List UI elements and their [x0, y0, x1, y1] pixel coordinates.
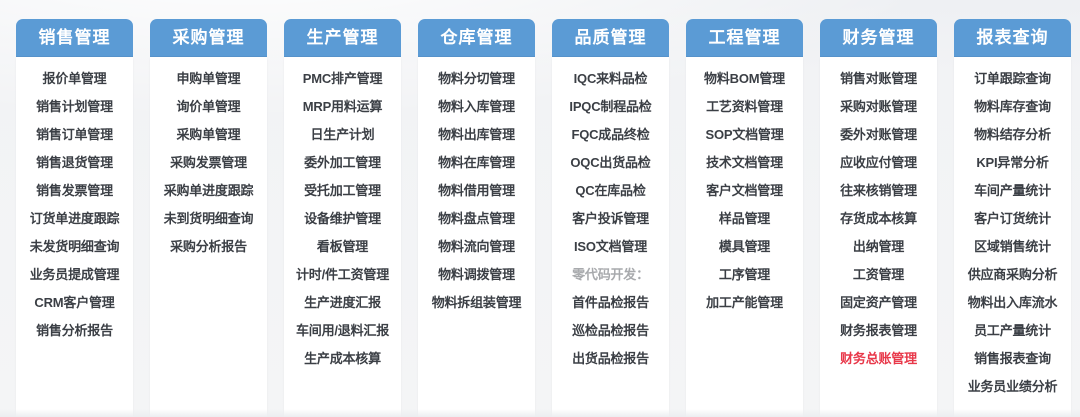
module-menu-item[interactable]: 日生产计划: [284, 121, 401, 149]
module-header-3[interactable]: 生产管理: [284, 19, 401, 57]
module-menu-item[interactable]: QC在库品检: [552, 177, 669, 205]
module-menu-item[interactable]: FQC成品终检: [552, 121, 669, 149]
module-menu-item[interactable]: 生产进度汇报: [284, 289, 401, 317]
module-menu-item[interactable]: ISO文档管理: [552, 233, 669, 261]
module-menu-item[interactable]: 财务总账管理: [820, 345, 937, 373]
module-item-list: IQC来料品检IPQC制程品检FQC成品终检OQC出货品检QC在库品检客户投诉管…: [552, 57, 669, 417]
module-card: 生产管理PMC排产管理MRP用料运算日生产计划委外加工管理受托加工管理设备维护管…: [284, 19, 401, 417]
module-menu-item[interactable]: 物料借用管理: [418, 177, 535, 205]
module-menu-item[interactable]: 财务报表管理: [820, 317, 937, 345]
module-menu-item[interactable]: 采购发票管理: [150, 149, 267, 177]
module-item-list: 物料BOM管理工艺资料管理SOP文档管理技术文档管理客户文档管理样品管理模具管理…: [686, 57, 803, 417]
module-card-grid: 销售管理报价单管理销售计划管理销售订单管理销售退货管理销售发票管理订货单进度跟踪…: [0, 0, 1080, 417]
module-menu-item[interactable]: 物料BOM管理: [686, 65, 803, 93]
module-card: 销售管理报价单管理销售计划管理销售订单管理销售退货管理销售发票管理订货单进度跟踪…: [16, 19, 133, 417]
module-card: 采购管理申购单管理询价单管理采购单管理采购发票管理采购单进度跟踪未到货明细查询采…: [150, 19, 267, 417]
module-menu-item[interactable]: 样品管理: [686, 205, 803, 233]
module-menu-item[interactable]: 销售分析报告: [16, 317, 133, 345]
module-menu-item[interactable]: 订单跟踪查询: [954, 65, 1071, 93]
module-menu-item[interactable]: 销售退货管理: [16, 149, 133, 177]
module-header-5[interactable]: 品质管理: [552, 19, 669, 57]
module-menu-item[interactable]: 存货成本核算: [820, 205, 937, 233]
module-menu-item[interactable]: 出货品检报告: [552, 345, 669, 373]
module-menu-item[interactable]: 未发货明细查询: [16, 233, 133, 261]
module-header-7[interactable]: 财务管理: [820, 19, 937, 57]
module-menu-item[interactable]: 未到货明细查询: [150, 205, 267, 233]
module-menu-item[interactable]: 采购单管理: [150, 121, 267, 149]
module-menu-item[interactable]: 销售订单管理: [16, 121, 133, 149]
module-menu-item[interactable]: 物料调拨管理: [418, 261, 535, 289]
module-menu-item[interactable]: 模具管理: [686, 233, 803, 261]
module-menu-item[interactable]: 往来核销管理: [820, 177, 937, 205]
erp-module-navigation: 销售管理报价单管理销售计划管理销售订单管理销售退货管理销售发票管理订货单进度跟踪…: [0, 0, 1080, 417]
module-menu-item[interactable]: 销售计划管理: [16, 93, 133, 121]
module-menu-item[interactable]: 物料结存分析: [954, 121, 1071, 149]
module-header-1[interactable]: 销售管理: [16, 19, 133, 57]
module-menu-item[interactable]: 应收应付管理: [820, 149, 937, 177]
module-menu-item[interactable]: 客户文档管理: [686, 177, 803, 205]
module-menu-item[interactable]: 车间产量统计: [954, 177, 1071, 205]
module-menu-item[interactable]: 采购分析报告: [150, 233, 267, 261]
module-item-list: 申购单管理询价单管理采购单管理采购发票管理采购单进度跟踪未到货明细查询采购分析报…: [150, 57, 267, 417]
module-item-list: 销售对账管理采购对账管理委外对账管理应收应付管理往来核销管理存货成本核算出纳管理…: [820, 57, 937, 417]
module-menu-item[interactable]: 工艺资料管理: [686, 93, 803, 121]
module-menu-item[interactable]: 供应商采购分析: [954, 261, 1071, 289]
module-menu-item[interactable]: IPQC制程品检: [552, 93, 669, 121]
module-menu-item[interactable]: 物料库存查询: [954, 93, 1071, 121]
module-menu-item[interactable]: SOP文档管理: [686, 121, 803, 149]
module-menu-item[interactable]: 生产成本核算: [284, 345, 401, 373]
module-card: 仓库管理物料分切管理物料入库管理物料出库管理物料在库管理物料借用管理物料盘点管理…: [418, 19, 535, 417]
module-item-list: 订单跟踪查询物料库存查询物料结存分析KPI异常分析车间产量统计客户订货统计区域销…: [954, 57, 1071, 417]
module-menu-item[interactable]: 采购单进度跟踪: [150, 177, 267, 205]
module-menu-item[interactable]: 客户投诉管理: [552, 205, 669, 233]
module-card: 报表查询订单跟踪查询物料库存查询物料结存分析KPI异常分析车间产量统计客户订货统…: [954, 19, 1071, 417]
module-menu-item[interactable]: 销售对账管理: [820, 65, 937, 93]
module-menu-item[interactable]: 采购对账管理: [820, 93, 937, 121]
module-menu-item[interactable]: 物料入库管理: [418, 93, 535, 121]
module-menu-item[interactable]: KPI异常分析: [954, 149, 1071, 177]
module-item-list: 物料分切管理物料入库管理物料出库管理物料在库管理物料借用管理物料盘点管理物料流向…: [418, 57, 535, 417]
module-card: 工程管理物料BOM管理工艺资料管理SOP文档管理技术文档管理客户文档管理样品管理…: [686, 19, 803, 417]
module-menu-item[interactable]: 业务员提成管理: [16, 261, 133, 289]
module-header-8[interactable]: 报表查询: [954, 19, 1071, 57]
module-menu-item[interactable]: 看板管理: [284, 233, 401, 261]
module-item-list: PMC排产管理MRP用料运算日生产计划委外加工管理受托加工管理设备维护管理看板管…: [284, 57, 401, 417]
module-menu-item[interactable]: 物料出库管理: [418, 121, 535, 149]
module-menu-item[interactable]: 员工产量统计: [954, 317, 1071, 345]
module-menu-item[interactable]: 物料出入库流水: [954, 289, 1071, 317]
module-menu-item[interactable]: 物料盘点管理: [418, 205, 535, 233]
module-menu-item[interactable]: 委外加工管理: [284, 149, 401, 177]
module-menu-item[interactable]: 销售发票管理: [16, 177, 133, 205]
module-menu-item[interactable]: IQC来料品检: [552, 65, 669, 93]
module-menu-item[interactable]: 出纳管理: [820, 233, 937, 261]
module-menu-item[interactable]: 设备维护管理: [284, 205, 401, 233]
module-menu-item[interactable]: PMC排产管理: [284, 65, 401, 93]
module-menu-item[interactable]: 物料拆组装管理: [418, 289, 535, 317]
module-menu-item[interactable]: 技术文档管理: [686, 149, 803, 177]
module-header-2[interactable]: 采购管理: [150, 19, 267, 57]
module-menu-item[interactable]: 受托加工管理: [284, 177, 401, 205]
module-header-6[interactable]: 工程管理: [686, 19, 803, 57]
module-menu-item[interactable]: 工资管理: [820, 261, 937, 289]
module-menu-item[interactable]: 订货单进度跟踪: [16, 205, 133, 233]
module-menu-item[interactable]: 客户订货统计: [954, 205, 1071, 233]
module-menu-item[interactable]: MRP用料运算: [284, 93, 401, 121]
module-section-label: 零代码开发：: [552, 261, 669, 289]
module-menu-item[interactable]: 巡检品检报告: [552, 317, 669, 345]
module-menu-item[interactable]: 物料在库管理: [418, 149, 535, 177]
module-menu-item[interactable]: 委外对账管理: [820, 121, 937, 149]
module-menu-item[interactable]: 业务员业绩分析: [954, 373, 1071, 401]
module-menu-item[interactable]: 固定资产管理: [820, 289, 937, 317]
module-card: 品质管理IQC来料品检IPQC制程品检FQC成品终检OQC出货品检QC在库品检客…: [552, 19, 669, 417]
module-menu-item[interactable]: 首件品检报告: [552, 289, 669, 317]
module-menu-item[interactable]: OQC出货品检: [552, 149, 669, 177]
module-header-4[interactable]: 仓库管理: [418, 19, 535, 57]
module-item-list: 报价单管理销售计划管理销售订单管理销售退货管理销售发票管理订货单进度跟踪未发货明…: [16, 57, 133, 417]
module-menu-item[interactable]: 工序管理: [686, 261, 803, 289]
module-menu-item[interactable]: 车间用/退料汇报: [284, 317, 401, 345]
module-menu-item[interactable]: 区域销售统计: [954, 233, 1071, 261]
module-card: 财务管理销售对账管理采购对账管理委外对账管理应收应付管理往来核销管理存货成本核算…: [820, 19, 937, 417]
module-menu-item[interactable]: 物料流向管理: [418, 233, 535, 261]
module-menu-item[interactable]: 物料分切管理: [418, 65, 535, 93]
module-menu-item[interactable]: 加工产能管理: [686, 289, 803, 317]
module-menu-item[interactable]: 计时/件工资管理: [284, 261, 401, 289]
module-menu-item[interactable]: CRM客户管理: [16, 289, 133, 317]
module-menu-item[interactable]: 申购单管理: [150, 65, 267, 93]
module-menu-item[interactable]: 询价单管理: [150, 93, 267, 121]
module-menu-item[interactable]: 报价单管理: [16, 65, 133, 93]
module-menu-item[interactable]: 销售报表查询: [954, 345, 1071, 373]
